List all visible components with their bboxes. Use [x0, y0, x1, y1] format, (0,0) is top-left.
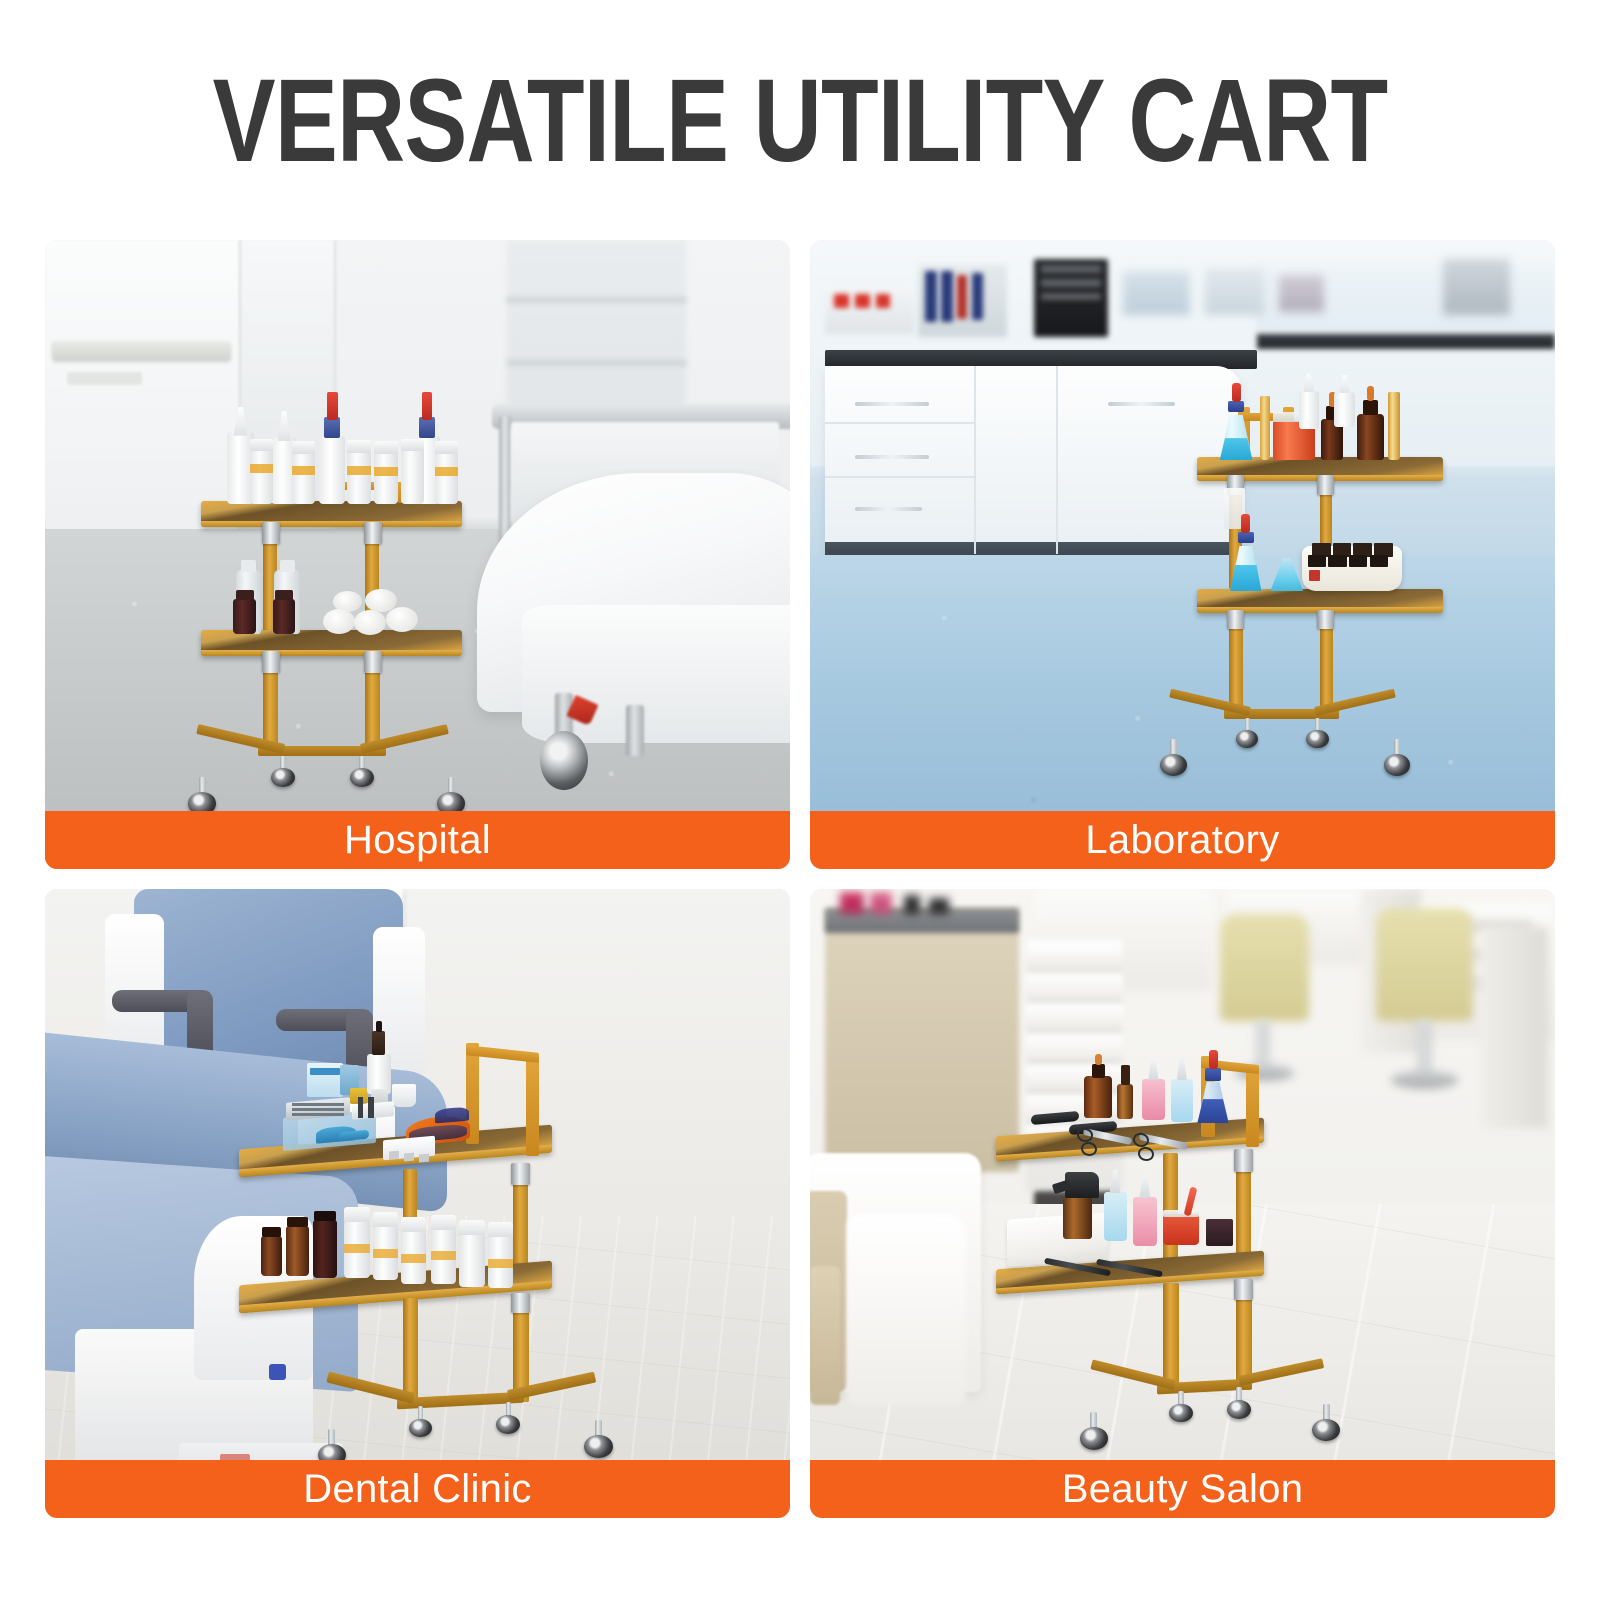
- bed-caster-wheel-icon: [540, 731, 588, 790]
- panel-dental[interactable]: Dental Clinic: [45, 889, 790, 1518]
- panel-salon[interactable]: Beauty Salon: [810, 889, 1555, 1518]
- panel-grid: Hospital: [45, 240, 1555, 1518]
- dental-scene-photo: [45, 889, 790, 1518]
- cart-caster-wheel-icon: [1080, 1412, 1108, 1450]
- laboratory-scene-photo: [810, 240, 1555, 869]
- panel-hospital[interactable]: Hospital: [45, 240, 790, 869]
- pink-applicator-bottle: [1142, 1079, 1164, 1121]
- panel-label-text: Dental Clinic: [303, 1469, 531, 1509]
- panel-label-text: Beauty Salon: [1062, 1469, 1304, 1509]
- panel-label-salon: Beauty Salon: [810, 1460, 1555, 1518]
- amber-spray-bottle: [1063, 1197, 1091, 1239]
- amber-bottle: [1084, 1076, 1112, 1118]
- red-mixing-bowl: [1163, 1214, 1199, 1245]
- page-title: VERSATILE UTILITY CART: [160, 62, 1440, 180]
- panel-label-hospital: Hospital: [45, 811, 790, 869]
- panel-label-text: Hospital: [344, 820, 491, 860]
- cart-top-tray: [201, 501, 462, 527]
- white-towel: [1007, 1213, 1108, 1267]
- test-tube: [1260, 396, 1270, 460]
- panel-laboratory[interactable]: Laboratory: [810, 240, 1555, 869]
- dark-brown-bottle: [313, 1220, 337, 1278]
- dropper-bottle: [1117, 1084, 1133, 1119]
- cart-caster-wheel-icon: [1160, 739, 1187, 775]
- dark-container: [1206, 1219, 1233, 1247]
- amber-bottle: [261, 1236, 282, 1276]
- dropper-bottle: [319, 436, 345, 504]
- hospital-scene-photo: [45, 240, 790, 869]
- salon-chair: [1220, 914, 1309, 1021]
- cart-caster-wheel-icon: [188, 777, 216, 815]
- panel-label-laboratory: Laboratory: [810, 811, 1555, 869]
- salon-scene-photo: [810, 889, 1555, 1518]
- dark-amber-bottle: [233, 599, 255, 634]
- cotton-roll-cup: [392, 1084, 416, 1107]
- blue-applicator-bottle: [1171, 1079, 1193, 1122]
- amber-reagent-bottle: [1357, 414, 1384, 461]
- graduated-cylinder: [1388, 392, 1400, 460]
- wall-handrail-icon: [52, 341, 231, 361]
- panel-label-text: Laboratory: [1085, 820, 1279, 860]
- panel-label-dental: Dental Clinic: [45, 1460, 790, 1518]
